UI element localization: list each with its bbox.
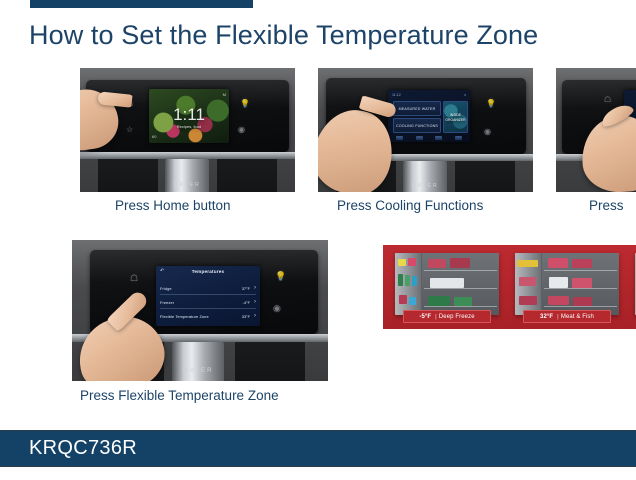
temperature-row-freezer[interactable]: Freezer -4°F › — [160, 296, 256, 309]
promo-tag-temp: -5°F — [419, 314, 431, 320]
food-item — [573, 297, 592, 306]
food-item — [428, 296, 450, 306]
display-screen-temperatures[interactable]: ↶ Temperatures Fridge 37°F › Freezer -4°… — [156, 266, 260, 326]
page-title: How to Set the Flexible Temperature Zone — [29, 18, 538, 52]
dispenser-right-well — [235, 342, 305, 381]
step-photo-flexible-temperature-zone: ☖ ☆ 💡 ◉ ↶ Temperatures Fridge 37°F › Fre… — [72, 240, 328, 381]
top-accent-bar — [30, 0, 253, 8]
food-item — [454, 297, 472, 306]
temperature-row-flexible-temperature-zone[interactable]: Flexible Temperature Zone 33°F › — [160, 310, 256, 322]
food-item — [450, 258, 470, 268]
inside-organizer-label: INSIDE ORGANIZER — [444, 113, 467, 122]
water-dispenser-label: WATER — [403, 183, 447, 189]
display-screen-menu[interactable]: 11:12 x MEASURED WATER COOLING FUNCTIONS… — [388, 90, 470, 142]
inside-organizer-tile[interactable]: INSIDE ORGANIZER — [443, 101, 468, 133]
compartment-interior — [422, 253, 499, 315]
food-item — [398, 259, 406, 266]
compartment-door — [395, 253, 422, 315]
compartment-deep-freeze — [395, 253, 499, 315]
row-label: Fridge — [160, 286, 242, 291]
dispenser-left-well — [98, 159, 158, 192]
step-card-home: ☖ ☆ 💡 ◉ 1:11 Recipes, food 60 M WATER — [80, 68, 295, 192]
promo-compartment-image: -5°F | Deep Freeze 32°F | Meat & Fish 37… — [383, 245, 636, 329]
menu-dock — [391, 135, 467, 141]
row-value: 33°F — [242, 314, 250, 319]
row-value: -4°F — [243, 300, 250, 305]
home-icon[interactable]: ☖ — [130, 274, 138, 283]
light-icon[interactable]: 💡 — [486, 100, 496, 108]
step-photo-cooling-functions: ☖ 💡 ◉ 11:12 x MEASURED WATER COOLING FUN… — [318, 68, 533, 192]
panel-chrome-trim — [80, 152, 295, 159]
dispenser-right-well — [217, 159, 277, 192]
food-item — [572, 278, 592, 288]
home-corner-left-label: 60 — [152, 134, 156, 139]
row-value: 37°F — [242, 286, 250, 291]
slide-root: How to Set the Flexible Temperature Zone… — [0, 0, 636, 480]
light-icon[interactable]: 💡 — [240, 100, 250, 108]
step-photo-home: ☖ ☆ 💡 ◉ 1:11 Recipes, food 60 M WATER — [80, 68, 295, 192]
food-item — [398, 274, 403, 286]
promo-tag-meat-fish: 32°F | Meat & Fish — [523, 310, 611, 323]
promo-tag-deep-freeze: -5°F | Deep Freeze — [403, 310, 491, 323]
food-item — [405, 275, 410, 286]
model-number: KRQC736R — [29, 437, 137, 460]
food-item — [428, 259, 446, 268]
power-icon[interactable]: ◉ — [238, 126, 245, 134]
home-corner-right-label: M — [223, 92, 226, 97]
step-caption-third: Press — [589, 198, 624, 213]
water-dispenser: WATER — [165, 159, 209, 192]
food-item — [409, 297, 416, 305]
step-card-cooling-functions: ☖ 💡 ◉ 11:12 x MEASURED WATER COOLING FUN… — [318, 68, 533, 192]
row-label: Freezer — [160, 300, 243, 305]
food-item — [548, 296, 569, 305]
footer-bar: KRQC736R — [0, 430, 636, 467]
food-item — [519, 296, 537, 305]
menu-status-time: 11:12 — [392, 93, 401, 97]
water-dispenser-label: WATER — [172, 368, 224, 374]
promo-tag-label: Meat & Fish — [561, 314, 594, 320]
step-caption-flexible-temperature-zone: Press Flexible Temperature Zone — [80, 388, 279, 403]
dock-icon[interactable] — [396, 136, 403, 140]
chevron-right-icon: › — [254, 285, 256, 291]
compartment-meat-fish — [515, 253, 619, 315]
clock-readout: 1:11 — [149, 106, 229, 124]
home-icon[interactable]: ☖ — [604, 96, 611, 104]
promo-tag-temp: 32°F — [540, 314, 553, 320]
promo-tag-label: Deep Freeze — [439, 314, 475, 320]
dock-icon[interactable] — [416, 136, 423, 140]
food-item — [548, 258, 568, 268]
food-item — [519, 277, 536, 286]
chevron-right-icon: › — [254, 299, 256, 305]
home-subtitle: Recipes, food — [149, 124, 229, 129]
step-card-third: ☖ ☆ Press — [556, 68, 636, 192]
food-item — [412, 276, 417, 286]
row-label: Flexible Temperature Zone — [160, 314, 242, 319]
food-item — [517, 260, 538, 267]
power-icon[interactable]: ◉ — [484, 128, 491, 136]
dispenser-right-well — [455, 161, 515, 192]
star-icon[interactable]: ☆ — [126, 126, 133, 134]
food-item — [430, 278, 464, 288]
compartment-door — [515, 253, 542, 315]
dock-icon[interactable] — [455, 136, 462, 140]
camera-icon[interactable]: ◉ — [273, 304, 281, 313]
step-photo-third: ☖ ☆ — [556, 68, 636, 192]
chevron-right-icon: › — [254, 313, 256, 319]
food-item — [549, 277, 568, 288]
promo-tag-separator: | — [557, 314, 559, 320]
food-item — [408, 258, 416, 266]
close-icon[interactable]: x — [464, 93, 466, 97]
temperature-row-fridge[interactable]: Fridge 37°F › — [160, 282, 256, 295]
step-caption-cooling-functions: Press Cooling Functions — [337, 198, 483, 213]
food-item — [399, 295, 407, 304]
dock-icon[interactable] — [435, 136, 442, 140]
menu-status-bar: 11:12 x — [390, 91, 468, 98]
temperatures-title: Temperatures — [156, 269, 260, 274]
promo-tag-separator: | — [435, 314, 437, 320]
water-dispenser-label: WATER — [165, 182, 209, 188]
compartment-interior — [542, 253, 619, 315]
light-icon[interactable]: 💡 — [275, 272, 286, 281]
water-dispenser: WATER — [403, 161, 447, 192]
step-caption-home: Press Home button — [115, 198, 231, 213]
cooling-functions-button[interactable]: COOLING FUNCTIONS — [393, 118, 441, 133]
step-card-flexible-temperature-zone: ☖ ☆ 💡 ◉ ↶ Temperatures Fridge 37°F › Fre… — [72, 240, 328, 381]
food-item — [572, 259, 592, 268]
measured-water-button[interactable]: MEASURED WATER — [393, 101, 441, 116]
water-dispenser: WATER — [172, 342, 224, 381]
display-screen-home[interactable]: 1:11 Recipes, food 60 M — [149, 89, 229, 143]
